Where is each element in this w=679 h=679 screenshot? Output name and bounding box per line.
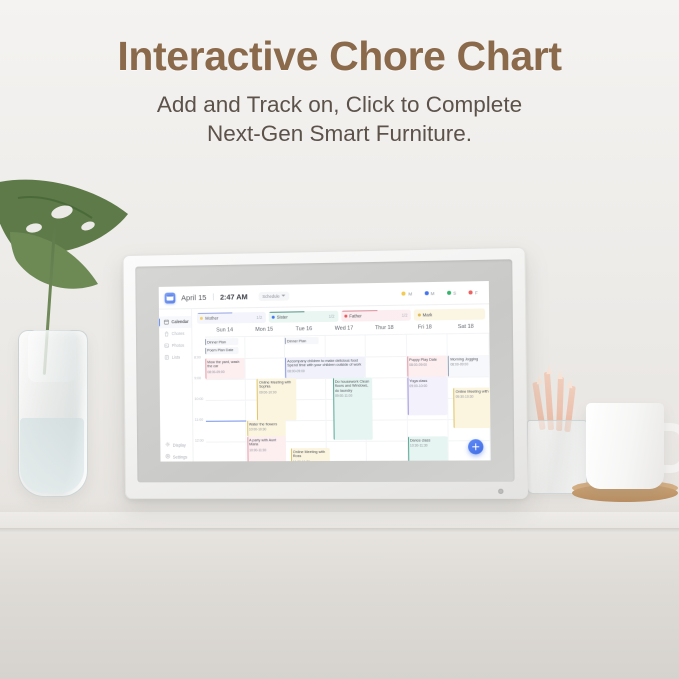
member-name-group: Mark	[417, 312, 432, 317]
day-header[interactable]: Sun 14	[205, 326, 245, 337]
day-header[interactable]: Thur 18	[364, 323, 405, 334]
event-color-bar	[205, 339, 206, 346]
promo-subline-1: Add and Track on, Click to Complete	[0, 91, 679, 120]
event-title: Online Meeting with Sophia	[259, 380, 294, 390]
member-name-group: Sister	[272, 314, 288, 319]
legend-item[interactable]: F	[468, 290, 477, 295]
calendar-event[interactable]: Dinner Plan	[285, 337, 319, 344]
event-title: A party with Aunt Maria	[249, 438, 284, 448]
event-title: Dance class	[410, 438, 446, 443]
event-title: Dinner Plan	[287, 339, 317, 344]
day-column[interactable]: Dinner PlanPoem Plan DateMow the yard, w…	[205, 337, 246, 462]
event-color-bar	[205, 358, 206, 379]
member-card[interactable]: Sister1/2	[268, 310, 337, 322]
event-color-bar	[205, 347, 206, 354]
event-title: Mow the yard, wash the car	[207, 360, 242, 370]
event-color-bar	[285, 357, 286, 378]
member-name: Father	[349, 313, 362, 318]
legend-label: M	[431, 291, 435, 296]
member-name: Mark	[423, 312, 433, 317]
lists-icon	[164, 355, 169, 360]
calendar-event[interactable]: Dinner Plan	[205, 338, 238, 345]
app-screen: April 15 | 2:47 AM Schedule MMSF Calenda…	[159, 281, 491, 462]
member-name: Mother	[205, 315, 218, 320]
desk-surface	[0, 512, 679, 679]
event-time: 08:00-09:00	[450, 362, 486, 367]
sidebar-item-label: Chores	[172, 331, 185, 336]
coffee-mug	[586, 403, 664, 489]
member-task-count: 1/2	[256, 314, 262, 319]
day-header[interactable]: Tue 16	[284, 324, 324, 335]
event-time: 10:00-11:30	[249, 448, 284, 452]
calendar-event[interactable]: Online Meeting with Ross11:00-11:30	[291, 448, 331, 462]
event-color-bar	[448, 355, 449, 376]
event-time: 10:30-11:30	[410, 443, 446, 447]
pencil-cup	[527, 420, 587, 494]
calendar-event[interactable]: Poem Plan Date	[205, 347, 238, 354]
calendar-event[interactable]: Online Meeting with Sophia09:00-10:00	[257, 378, 297, 420]
sidebar-item-photos[interactable]: Photos	[159, 340, 191, 352]
day-header[interactable]: Wed 17	[324, 324, 364, 335]
event-title: Online Meeting with S	[455, 389, 490, 394]
legend-label: S	[453, 290, 456, 295]
calendar-grid-wrapper[interactable]: 8:009:0010:0011:0012:00 Dinner PlanPoem …	[192, 333, 490, 462]
sidebar-item-label: Calendar	[171, 320, 188, 325]
member-progress-bar	[268, 311, 304, 313]
device-indicator-led	[498, 489, 503, 494]
calendar-event[interactable]: Yoga class09:00-10:00	[407, 377, 448, 416]
pencil-tip	[557, 370, 563, 379]
member-legend: MMSF	[402, 290, 482, 296]
page-title: Interactive Chore Chart	[0, 34, 679, 78]
sidebar-item-label: Lists	[172, 355, 180, 360]
event-time: 09:00-10:00	[409, 384, 445, 389]
calendar-app-icon	[165, 292, 176, 303]
event-title: Water the flowers	[249, 422, 284, 427]
day-header[interactable]: Mon 15	[244, 325, 284, 336]
hour-gutter: 8:009:0010:0011:0012:00	[192, 337, 206, 462]
legend-dot-icon	[402, 292, 406, 296]
header-date: April 15	[181, 293, 206, 302]
calendar-event[interactable]: Dance class10:30-11:30	[408, 436, 449, 461]
event-time: 08:00-09:00	[287, 368, 363, 373]
event-time: 08:00-09:00	[409, 363, 445, 368]
member-dot-icon	[344, 314, 347, 317]
pencil-tip	[535, 375, 542, 385]
product-scene: Interactive Chore Chart Add and Track on…	[0, 0, 679, 679]
sidebar-item-label: Settings	[173, 454, 187, 459]
event-title: Morning Jogging	[450, 357, 486, 362]
hour-label: 10:00	[194, 397, 203, 401]
pencil-tip	[566, 379, 573, 389]
sidebar-item-lists[interactable]: Lists	[159, 352, 191, 364]
sidebar-item-label: Display	[173, 442, 186, 447]
member-dot-icon	[272, 315, 275, 318]
hour-label: 8:00	[194, 355, 201, 359]
sidebar-item-settings[interactable]: Settings	[160, 451, 192, 462]
header-separator: |	[212, 293, 214, 300]
calendar-event[interactable]: Accompany children to make delicious foo…	[285, 356, 365, 378]
member-card[interactable]: Father1/2	[341, 309, 411, 321]
promo-headline-block: Interactive Chore Chart Add and Track on…	[0, 34, 679, 149]
event-time: 09:30-10:30	[455, 394, 490, 399]
event-time: 09:00-10:00	[259, 390, 294, 395]
hour-label: 9:00	[194, 376, 201, 380]
event-time: 08:00-09:00	[207, 370, 242, 375]
vase-neck	[28, 330, 76, 382]
hour-label: 11:00	[195, 418, 204, 422]
member-progress-bar	[341, 310, 377, 312]
display-icon	[165, 442, 170, 447]
chevron-down-icon	[282, 295, 286, 297]
day-column[interactable]: Do housework Clean floors and Windows, d…	[325, 335, 367, 461]
calendar-event[interactable]: A party with Aunt Maria10:00-11:30	[247, 436, 287, 461]
photos-icon	[164, 343, 169, 348]
view-selector-dropdown[interactable]: Schedule	[258, 291, 289, 300]
sidebar-spacer	[159, 363, 192, 439]
member-dot-icon	[417, 313, 420, 316]
event-color-bar	[285, 337, 286, 344]
member-task-count: 1/2	[402, 312, 408, 317]
smart-display-device: April 15 | 2:47 AM Schedule MMSF Calenda…	[123, 247, 529, 499]
calendar-icon	[164, 320, 169, 325]
chores-icon	[164, 332, 169, 337]
event-title: Accompany children to make delicious foo…	[287, 358, 363, 368]
add-event-button[interactable]	[468, 439, 483, 454]
member-progress-bar	[197, 312, 233, 314]
event-title: Do housework Clean floors and Windows, d…	[335, 379, 371, 394]
calendar-panel: Mother1/2Sister1/2Father1/2Mark Sun 14Mo…	[192, 304, 491, 461]
vase-water	[20, 418, 84, 493]
event-color-bar	[407, 356, 408, 377]
member-name: Sister	[277, 314, 288, 319]
calendar-event[interactable]: Morning Jogging08:00-09:00	[448, 355, 489, 377]
settings-icon	[165, 454, 170, 459]
member-task-count: 1/2	[329, 313, 335, 318]
calendar-grid[interactable]: Dinner PlanPoem Plan DateMow the yard, w…	[205, 333, 491, 462]
view-selector-label: Schedule	[262, 293, 279, 298]
sidebar-nav: CalendarChoresPhotosListsDisplaySettings	[159, 309, 194, 461]
event-title: Dinner Plan	[207, 340, 237, 345]
legend-dot-icon	[424, 291, 428, 295]
event-title: Online Meeting with Ross	[293, 450, 329, 460]
member-dot-icon	[200, 316, 203, 319]
header-time: 2:47 AM	[220, 292, 248, 301]
sidebar-item-calendar[interactable]: Calendar	[159, 316, 191, 328]
day-column[interactable]: Puppy Play Date08:00-09:00Yoga class09:0…	[407, 334, 450, 461]
member-name-group: Mother	[200, 315, 218, 320]
event-color-bar	[247, 421, 248, 437]
legend-label: M	[408, 291, 412, 296]
promo-subline: Add and Track on, Click to Complete Next…	[0, 91, 679, 149]
member-card[interactable]: Mark	[414, 308, 485, 320]
desk-edge	[0, 528, 679, 533]
day-header[interactable]: Sat 18	[445, 322, 486, 333]
event-title: Yoga class	[409, 378, 445, 383]
sidebar-item-display[interactable]: Display	[160, 439, 192, 451]
member-card[interactable]: Mother1/2	[197, 311, 266, 323]
legend-item[interactable]: S	[447, 290, 457, 295]
legend-item[interactable]: M	[424, 291, 434, 296]
day-column[interactable]: Online Meeting with Sophia09:00-10:00Wat…	[245, 337, 286, 462]
calendar-event[interactable]: Mow the yard, wash the car08:00-09:00	[205, 358, 244, 379]
day-header[interactable]: Fri 18	[405, 323, 446, 334]
calendar-event[interactable]: Online Meeting with S09:30-10:30	[453, 387, 490, 428]
legend-dot-icon	[468, 290, 472, 294]
promo-subline-2: Next-Gen Smart Furniture.	[0, 120, 679, 149]
calendar-event[interactable]: Water the flowers10:00-10:30	[247, 420, 286, 436]
legend-dot-icon	[447, 291, 451, 295]
legend-label: F	[475, 290, 478, 295]
app-body: CalendarChoresPhotosListsDisplaySettings…	[159, 304, 491, 461]
event-title: Poem Plan Date	[207, 348, 237, 353]
hour-label: 12:00	[195, 439, 204, 443]
sidebar-item-chores[interactable]: Chores	[159, 328, 191, 340]
event-time: 10:00-10:30	[249, 427, 284, 431]
sidebar-item-label: Photos	[172, 343, 184, 348]
calendar-event[interactable]: Puppy Play Date08:00-09:00	[407, 356, 447, 378]
member-name-group: Father	[344, 313, 362, 318]
event-title: Puppy Play Date	[409, 357, 445, 362]
calendar-event[interactable]: Do housework Clean floors and Windows, d…	[333, 377, 373, 439]
event-time: 09:00-11:00	[335, 394, 371, 399]
pencil-tip	[546, 365, 553, 374]
legend-item[interactable]: M	[402, 291, 412, 296]
